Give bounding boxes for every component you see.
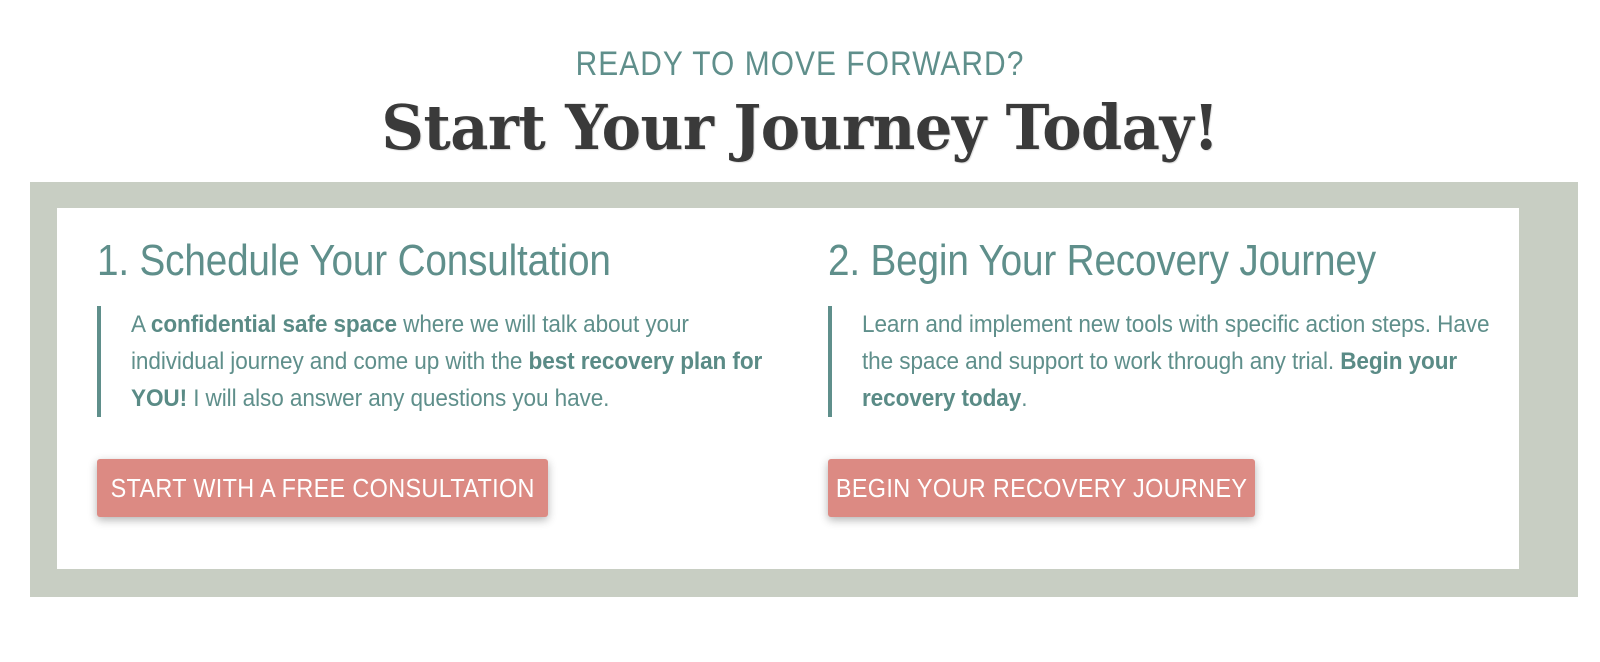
step-column-2: 2. Begin Your Recovery Journey Learn and… [788, 208, 1519, 569]
begin-recovery-journey-label: BEGIN YOUR RECOVERY JOURNEY [836, 473, 1248, 504]
section-heading-block: READY TO MOVE FORWARD? Start Your Journe… [0, 0, 1600, 160]
step-column-1: 1. Schedule Your Consultation A confiden… [57, 208, 788, 569]
step-1-body: A confidential safe space where we will … [131, 306, 786, 417]
start-free-consultation-label: START WITH A FREE CONSULTATION [110, 473, 534, 504]
step-2-title: 2. Begin Your Recovery Journey [828, 238, 1436, 284]
cta-section: READY TO MOVE FORWARD? Start Your Journe… [0, 0, 1600, 662]
start-free-consultation-button[interactable]: START WITH A FREE CONSULTATION [97, 459, 548, 517]
section-eyebrow: READY TO MOVE FORWARD? [96, 0, 1504, 81]
page-title: Start Your Journey Today! [40, 81, 1560, 160]
begin-recovery-journey-button[interactable]: BEGIN YOUR RECOVERY JOURNEY [828, 459, 1255, 517]
step-2-body: Learn and implement new tools with speci… [862, 306, 1517, 417]
step-2-quote: Learn and implement new tools with speci… [828, 306, 1519, 417]
step-1-quote: A confidential safe space where we will … [97, 306, 788, 417]
steps-frame: 1. Schedule Your Consultation A confiden… [30, 182, 1578, 597]
steps-card: 1. Schedule Your Consultation A confiden… [57, 208, 1519, 569]
step-1-title: 1. Schedule Your Consultation [97, 238, 705, 284]
